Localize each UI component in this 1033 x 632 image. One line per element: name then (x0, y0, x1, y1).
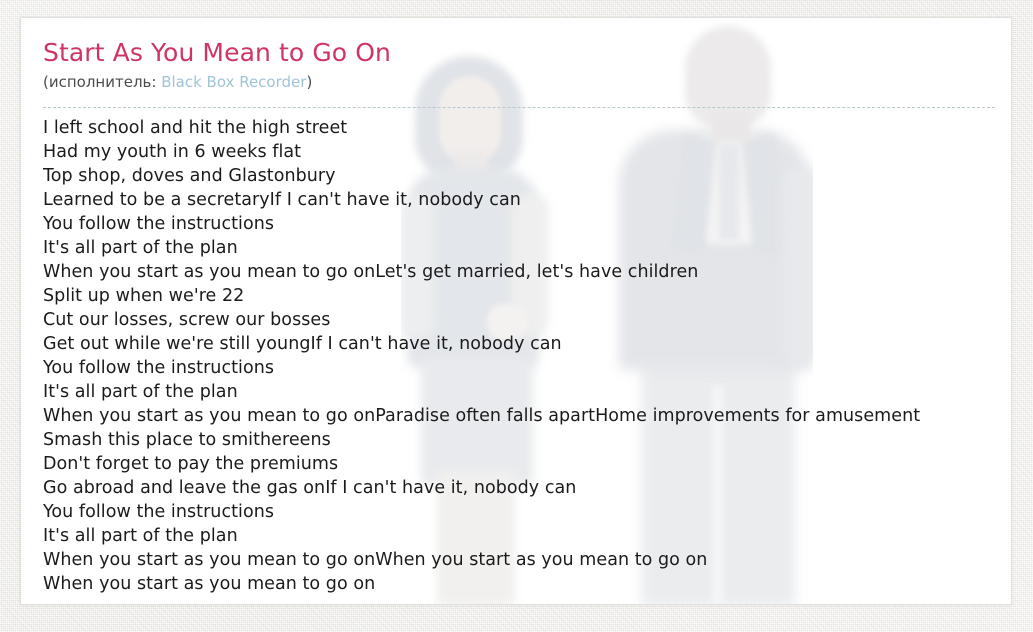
lyric-line: You follow the instructions (43, 212, 1012, 236)
lyrics-body: I left school and hit the high streetHad… (43, 116, 1012, 602)
lyric-line: I left school and hit the high street (43, 116, 1012, 140)
artist-suffix-label: ) (306, 73, 312, 91)
lyric-line: When you start as you mean to go onParad… (43, 404, 1012, 428)
lyric-line: It's all part of the plan (43, 380, 1012, 404)
header-divider (43, 107, 995, 108)
lyric-line: Split up when we're 22 (43, 284, 1012, 308)
lyric-line: When you start as you mean to go onLet's… (43, 260, 1012, 284)
lyric-line: Go abroad and leave the gas onIf I can't… (43, 476, 1012, 500)
song-title: Start As You Mean to Go On (43, 38, 995, 68)
song-card: Start As You Mean to Go On (исполнитель:… (20, 17, 1012, 605)
song-header: Start As You Mean to Go On (исполнитель:… (43, 38, 995, 92)
lyric-line: When you start as you mean to go on (43, 572, 1012, 596)
lyric-line: Don't forget to pay the premiums (43, 452, 1012, 476)
lyric-line: Top shop, doves and Glastonbury (43, 164, 1012, 188)
page-background: Start As You Mean to Go On (исполнитель:… (0, 0, 1033, 632)
lyric-line: It's all part of the plan (43, 236, 1012, 260)
lyric-line: When you start as you mean to go onWhen … (43, 548, 1012, 572)
artist-prefix-label: (исполнитель: (43, 73, 161, 91)
artist-link[interactable]: Black Box Recorder (161, 73, 306, 91)
lyric-line: Smash this place to smithereens (43, 428, 1012, 452)
lyric-line: You follow the instructions (43, 500, 1012, 524)
lyric-line: Get out while we're still youngIf I can'… (43, 332, 1012, 356)
lyric-line: Learned to be a secretaryIf I can't have… (43, 188, 1012, 212)
lyric-line: Cut our losses, screw our bosses (43, 308, 1012, 332)
lyric-line: Had my youth in 6 weeks flat (43, 140, 1012, 164)
lyric-line: It's all part of the plan (43, 524, 1012, 548)
artist-credit: (исполнитель: Black Box Recorder) (43, 73, 995, 92)
lyric-line: You follow the instructions (43, 356, 1012, 380)
